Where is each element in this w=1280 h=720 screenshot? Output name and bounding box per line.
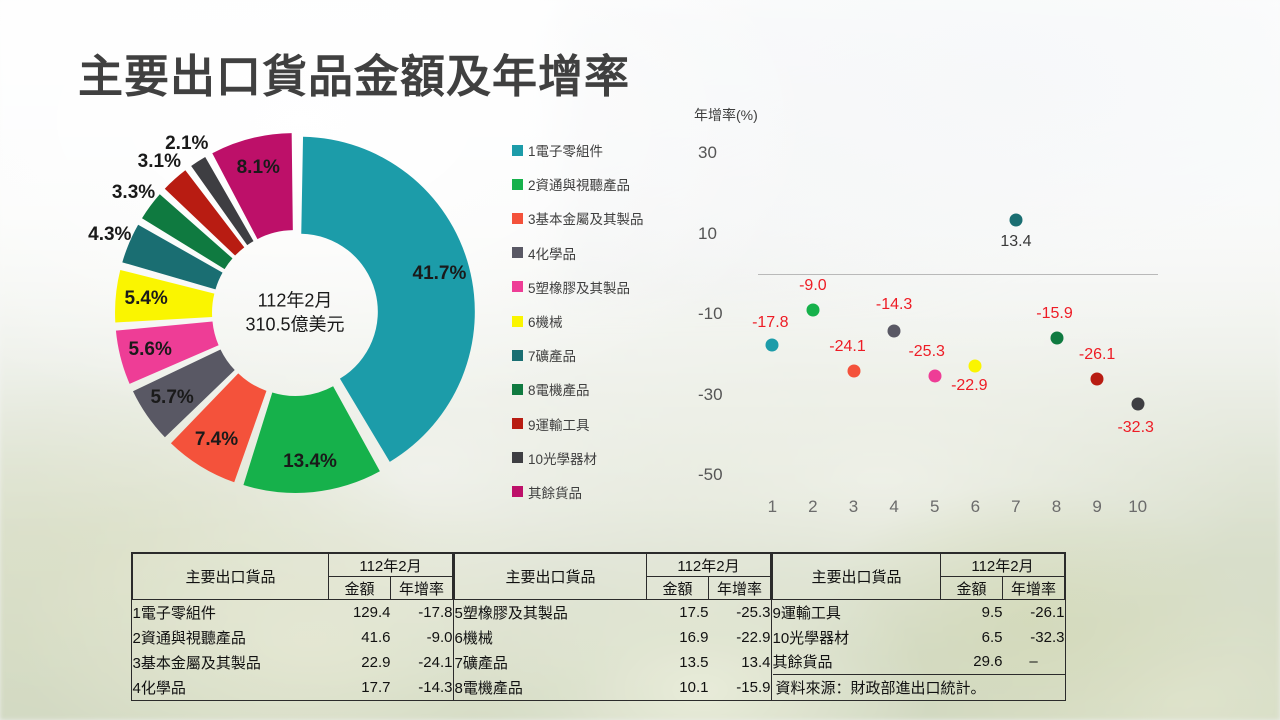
cell-growth-rate: 13.4 (709, 650, 771, 675)
table-row: 2資通與視聽產品41.6-9.0 (133, 625, 453, 650)
column-header-goods: 主要出口貨品 (455, 554, 647, 600)
table-header-row: 主要出口貨品112年2月 (773, 554, 1065, 577)
donut-slice-label: 5.4% (125, 288, 168, 310)
legend-item: 8電機產品 (512, 372, 692, 406)
scatter-point (1050, 331, 1063, 344)
donut-chart: 112年2月 310.5億美元 41.7%13.4%7.4%5.7%5.6%5.… (100, 118, 490, 508)
legend-item: 7礦產品 (512, 338, 692, 372)
scatter-x-tick-label: 2 (808, 497, 817, 517)
scatter-y-tick-label: -10 (698, 304, 723, 324)
donut-slice-label: 2.1% (165, 133, 208, 155)
legend-item: 10光學器材 (512, 441, 692, 475)
legend-item-label: 4化學品 (528, 243, 576, 263)
scatter-point (1131, 397, 1144, 410)
legend-swatch-icon (512, 384, 523, 395)
cell-goods-name: 1電子零組件 (133, 600, 329, 625)
cell-amount: 9.5 (941, 600, 1003, 625)
cell-amount: 29.6 (941, 650, 1003, 675)
scatter-x-tick-label: 9 (1092, 497, 1101, 517)
source-note: 資料來源：財政部進出口統計。 (773, 675, 1065, 700)
legend-item-label: 10光學器材 (528, 448, 597, 468)
legend-swatch-icon (512, 316, 523, 327)
donut-slice-label: 5.7% (150, 387, 193, 409)
cell-goods-name: 9運輸工具 (773, 600, 941, 625)
column-header-goods: 主要出口貨品 (773, 554, 941, 600)
scatter-x-tick-label: 3 (849, 497, 858, 517)
scatter-x-tick-label: 6 (971, 497, 980, 517)
donut-slice-label: 5.6% (129, 339, 172, 361)
table: 主要出口貨品112年2月金額年增率1電子零組件129.4-17.82資通與視聽產… (132, 553, 453, 700)
scatter-point-label: -24.1 (829, 338, 865, 356)
scatter-point (888, 325, 901, 338)
table-source-row: 資料來源：財政部進出口統計。 (773, 675, 1065, 700)
legend-swatch-icon (512, 281, 523, 292)
donut-slice-label: 41.7% (413, 263, 467, 285)
legend-swatch-icon (512, 247, 523, 258)
cell-growth-rate: -25.3 (709, 600, 771, 625)
cell-amount: 17.7 (329, 675, 391, 700)
column-header-amount: 金額 (329, 577, 391, 600)
donut-slice-label: 8.1% (237, 157, 280, 179)
legend-swatch-icon (512, 452, 523, 463)
scatter-x-tick-label: 5 (930, 497, 939, 517)
legend-item: 9運輸工具 (512, 407, 692, 441)
cell-amount: 16.9 (647, 625, 709, 650)
donut-center-line1: 112年2月 (245, 289, 344, 313)
table-header-row: 主要出口貨品112年2月 (133, 554, 453, 577)
cell-goods-name: 6機械 (455, 625, 647, 650)
column-header-amount: 金額 (647, 577, 709, 600)
scatter-x-tick-label: 4 (889, 497, 898, 517)
scatter-x-tick-label: 1 (768, 497, 777, 517)
column-header-growth: 年增率 (709, 577, 771, 600)
scatter-point-label: -9.0 (799, 277, 827, 295)
scatter-y-tick-label: -50 (698, 465, 723, 485)
scatter-point-label: -14.3 (876, 296, 912, 314)
export-goods-table: 主要出口貨品112年2月金額年增率1電子零組件129.4-17.82資通與視聽產… (131, 552, 1066, 701)
scatter-point-label: -26.1 (1079, 346, 1115, 364)
scatter-point-label: -22.9 (951, 377, 987, 395)
cell-amount: 13.5 (647, 650, 709, 675)
legend-item: 2資通與視聽產品 (512, 167, 692, 201)
scatter-point-label: -15.9 (1036, 305, 1072, 323)
column-header-amount: 金額 (941, 577, 1003, 600)
legend-item: 1電子零組件 (512, 133, 692, 167)
donut-slice-label: 13.4% (283, 451, 337, 473)
cell-goods-name: 2資通與視聽產品 (133, 625, 329, 650)
scatter-point (847, 364, 860, 377)
scatter-point (806, 303, 819, 316)
legend-item-label: 7礦產品 (528, 345, 576, 365)
cell-goods-name: 8電機產品 (455, 675, 647, 700)
scatter-point (1009, 213, 1022, 226)
cell-growth-rate: -9.0 (391, 625, 453, 650)
table-block: 主要出口貨品112年2月金額年增率9運輸工具9.5-26.110光學器材6.5-… (772, 553, 1065, 700)
column-header-growth: 年增率 (1003, 577, 1065, 600)
cell-amount: 41.6 (329, 625, 391, 650)
scatter-zero-line (758, 274, 1158, 275)
cell-growth-rate: -15.9 (709, 675, 771, 700)
cell-growth-rate: -26.1 (1003, 600, 1065, 625)
legend-swatch-icon (512, 145, 523, 156)
cell-growth-rate: -17.8 (391, 600, 453, 625)
legend-item: 3基本金屬及其製品 (512, 201, 692, 235)
column-header-period: 112年2月 (329, 554, 453, 577)
legend-item: 其餘貨品 (512, 475, 692, 509)
legend-item-label: 5塑橡膠及其製品 (528, 277, 630, 297)
scatter-point-label: 13.4 (1000, 233, 1031, 251)
scatter-point-label: -32.3 (1117, 419, 1153, 437)
table-row: 其餘貨品29.6– (773, 650, 1065, 675)
scatter-point (1091, 372, 1104, 385)
scatter-x-tick-label: 8 (1052, 497, 1061, 517)
cell-growth-rate: -14.3 (391, 675, 453, 700)
table-block: 主要出口貨品112年2月金額年增率1電子零組件129.4-17.82資通與視聽產… (132, 553, 454, 700)
table-block: 主要出口貨品112年2月金額年增率5塑橡膠及其製品17.5-25.36機械16.… (454, 553, 772, 700)
legend-swatch-icon (512, 486, 523, 497)
cell-goods-name: 7礦產品 (455, 650, 647, 675)
table-row: 1電子零組件129.4-17.8 (133, 600, 453, 625)
legend-item: 6機械 (512, 304, 692, 338)
cell-goods-name: 5塑橡膠及其製品 (455, 600, 647, 625)
legend-item-label: 1電子零組件 (528, 140, 603, 160)
column-header-growth: 年增率 (391, 577, 453, 600)
cell-growth-rate: -32.3 (1003, 625, 1065, 650)
growth-rate-scatter-chart: 年增率(%) 3010-10-30-5012345678910-17.8-9.0… (690, 105, 1170, 530)
scatter-y-tick-label: 30 (698, 143, 717, 163)
scatter-x-tick-label: 7 (1011, 497, 1020, 517)
table-row: 10光學器材6.5-32.3 (773, 625, 1065, 650)
legend-item-label: 8電機產品 (528, 379, 590, 399)
cell-amount: 17.5 (647, 600, 709, 625)
donut-slice-label: 3.3% (112, 182, 155, 204)
column-header-period: 112年2月 (941, 554, 1065, 577)
table: 主要出口貨品112年2月金額年增率5塑橡膠及其製品17.5-25.36機械16.… (454, 553, 771, 700)
legend-item-label: 9運輸工具 (528, 414, 590, 434)
donut-slice-label: 7.4% (195, 429, 238, 451)
legend-swatch-icon (512, 213, 523, 224)
scatter-x-tick-label: 10 (1128, 497, 1147, 517)
chart-legend: 1電子零組件2資通與視聽產品3基本金屬及其製品4化學品5塑橡膠及其製品6機械7礦… (512, 133, 692, 509)
cell-growth-rate: – (1003, 650, 1065, 675)
table-row: 3基本金屬及其製品22.9-24.1 (133, 650, 453, 675)
scatter-axis-title: 年增率(%) (694, 105, 758, 125)
scatter-point (969, 359, 982, 372)
table-row: 8電機產品10.1-15.9 (455, 675, 771, 700)
cell-growth-rate: -22.9 (709, 625, 771, 650)
table-row: 6機械16.9-22.9 (455, 625, 771, 650)
legend-swatch-icon (512, 350, 523, 361)
table: 主要出口貨品112年2月金額年增率9運輸工具9.5-26.110光學器材6.5-… (772, 553, 1065, 700)
legend-swatch-icon (512, 418, 523, 429)
slide-canvas: 主要出口貨品金額及年增率 112年2月 310.5億美元 41.7%13.4%7… (0, 0, 1280, 720)
cell-goods-name: 10光學器材 (773, 625, 941, 650)
table-row: 7礦產品13.513.4 (455, 650, 771, 675)
legend-item-label: 其餘貨品 (528, 482, 582, 502)
scatter-point-label: -17.8 (752, 314, 788, 332)
cell-amount: 6.5 (941, 625, 1003, 650)
legend-item: 5塑橡膠及其製品 (512, 270, 692, 304)
legend-item-label: 3基本金屬及其製品 (528, 208, 644, 228)
cell-goods-name: 4化學品 (133, 675, 329, 700)
cell-amount: 129.4 (329, 600, 391, 625)
scatter-y-tick-label: -30 (698, 385, 723, 405)
cell-amount: 10.1 (647, 675, 709, 700)
legend-item-label: 2資通與視聽產品 (528, 174, 630, 194)
legend-item: 4化學品 (512, 236, 692, 270)
column-header-goods: 主要出口貨品 (133, 554, 329, 600)
scatter-point (928, 369, 941, 382)
table-header-row: 主要出口貨品112年2月 (455, 554, 771, 577)
column-header-period: 112年2月 (647, 554, 771, 577)
table-row: 5塑橡膠及其製品17.5-25.3 (455, 600, 771, 625)
cell-goods-name: 其餘貨品 (773, 650, 941, 675)
scatter-y-tick-label: 10 (698, 224, 717, 244)
table-row: 9運輸工具9.5-26.1 (773, 600, 1065, 625)
legend-swatch-icon (512, 179, 523, 190)
legend-item-label: 6機械 (528, 311, 563, 331)
table-row: 4化學品17.7-14.3 (133, 675, 453, 700)
scatter-point-label: -25.3 (908, 343, 944, 361)
donut-center-label: 112年2月 310.5億美元 (245, 289, 344, 337)
donut-slice-label: 4.3% (88, 224, 131, 246)
scatter-point (766, 339, 779, 352)
cell-amount: 22.9 (329, 650, 391, 675)
cell-growth-rate: -24.1 (391, 650, 453, 675)
page-title: 主要出口貨品金額及年增率 (78, 40, 630, 105)
donut-center-line2: 310.5億美元 (245, 313, 344, 337)
cell-goods-name: 3基本金屬及其製品 (133, 650, 329, 675)
